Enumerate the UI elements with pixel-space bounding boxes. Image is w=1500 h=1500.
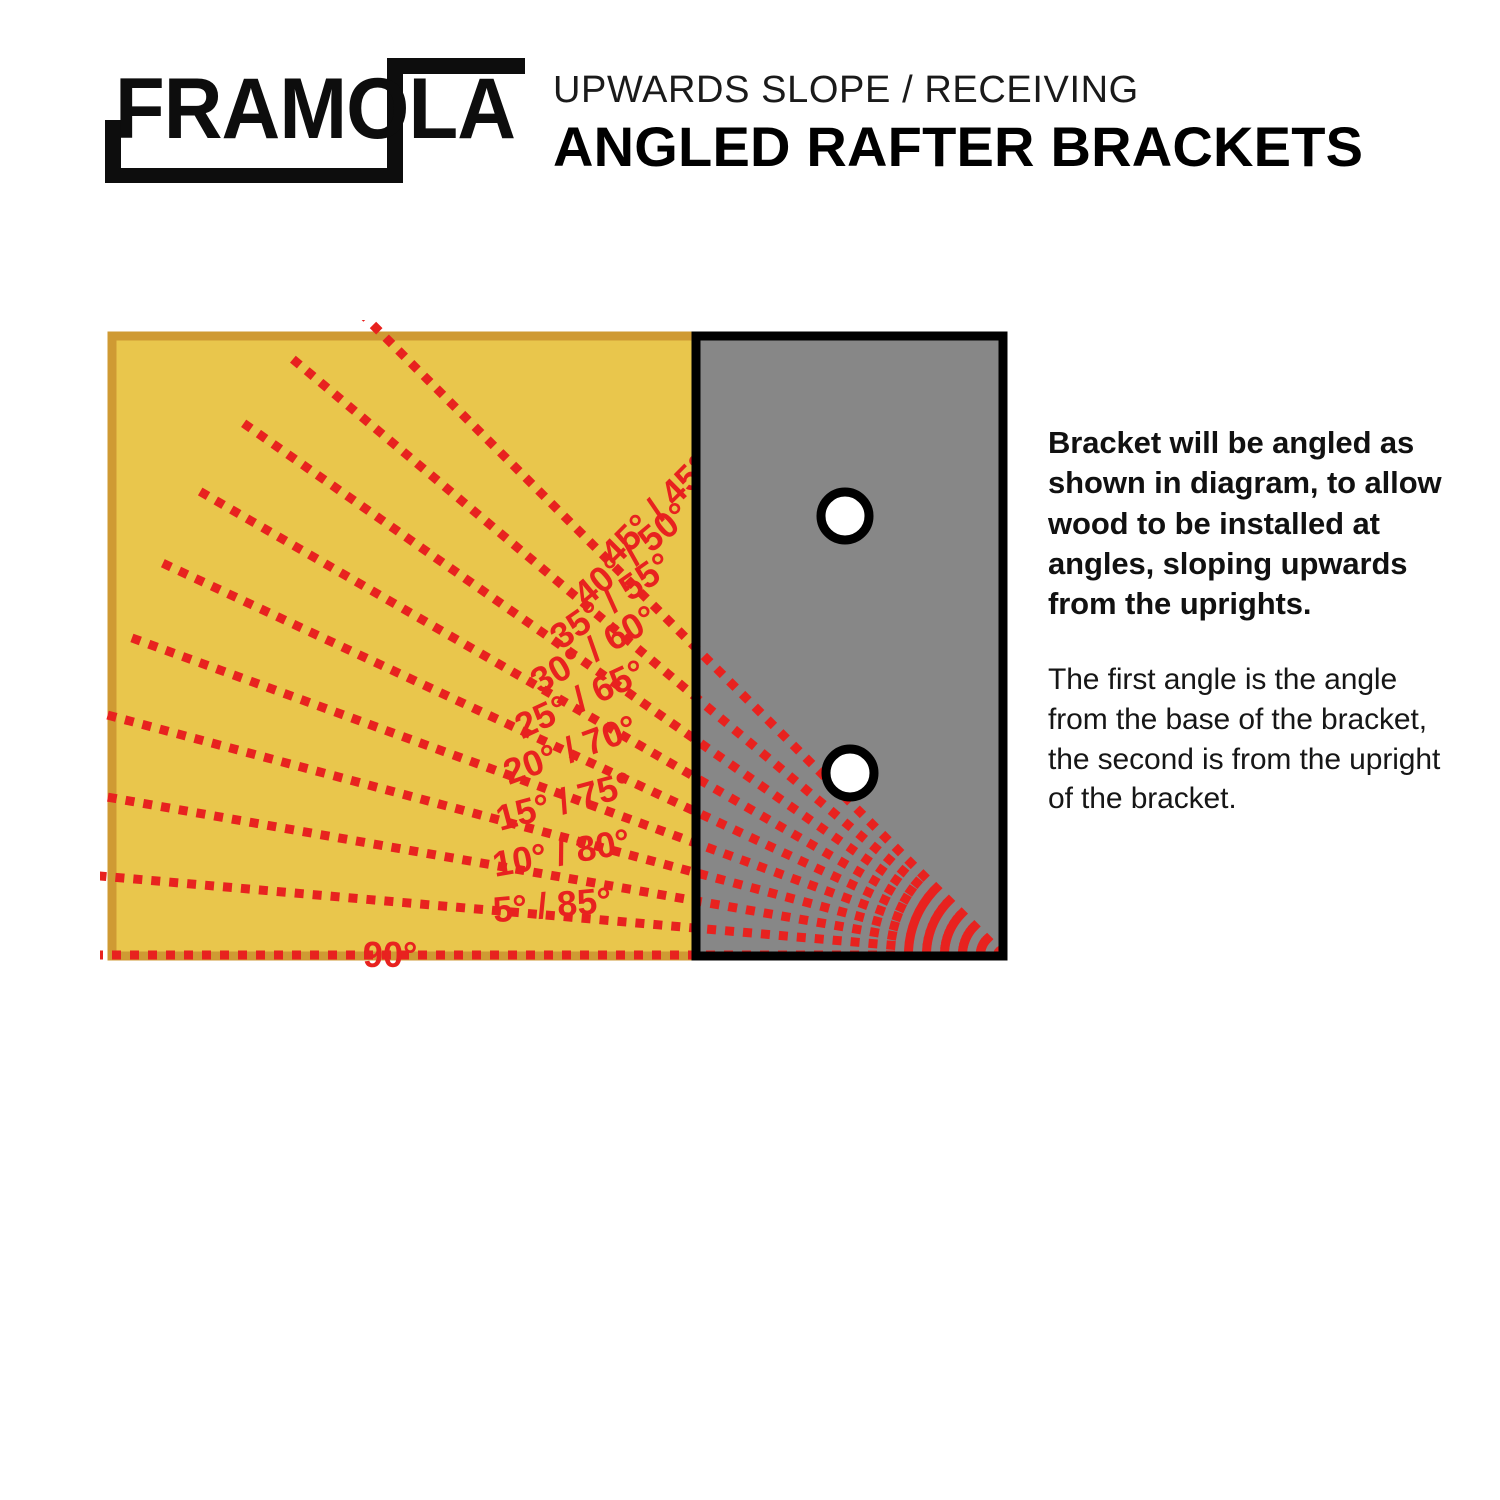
header-subtitle: UPWARDS SLOPE / RECEIVING xyxy=(553,70,1453,110)
title-block: UPWARDS SLOPE / RECEIVING ANGLED RAFTER … xyxy=(553,70,1453,179)
description-panel: Bracket will be angled as shown in diagr… xyxy=(1048,392,1458,849)
logo-wordmark: FRAMOLA xyxy=(115,61,515,157)
brand-logo: FRAMOLA xyxy=(105,58,525,183)
angle-diagram: 45° / 45°40° / 50°35° / 55°30° / 60°25° … xyxy=(100,320,1030,980)
page-title: ANGLED RAFTER BRACKETS xyxy=(553,116,1453,179)
bracket-hole-upper xyxy=(821,492,869,540)
framola-frame-logo: FRAMOLA xyxy=(105,58,525,183)
description-light: The first angle is the angle from the ba… xyxy=(1048,660,1458,818)
angle-diagram-svg: 45° / 45°40° / 50°35° / 55°30° / 60°25° … xyxy=(100,320,1030,980)
description-bold: Bracket will be angled as shown in diagr… xyxy=(1048,423,1458,624)
page-header: FRAMOLA UPWARDS SLOPE / RECEIVING ANGLED… xyxy=(0,0,1500,230)
angle-label: 90° xyxy=(363,934,417,975)
bracket-hole-lower xyxy=(826,749,874,797)
